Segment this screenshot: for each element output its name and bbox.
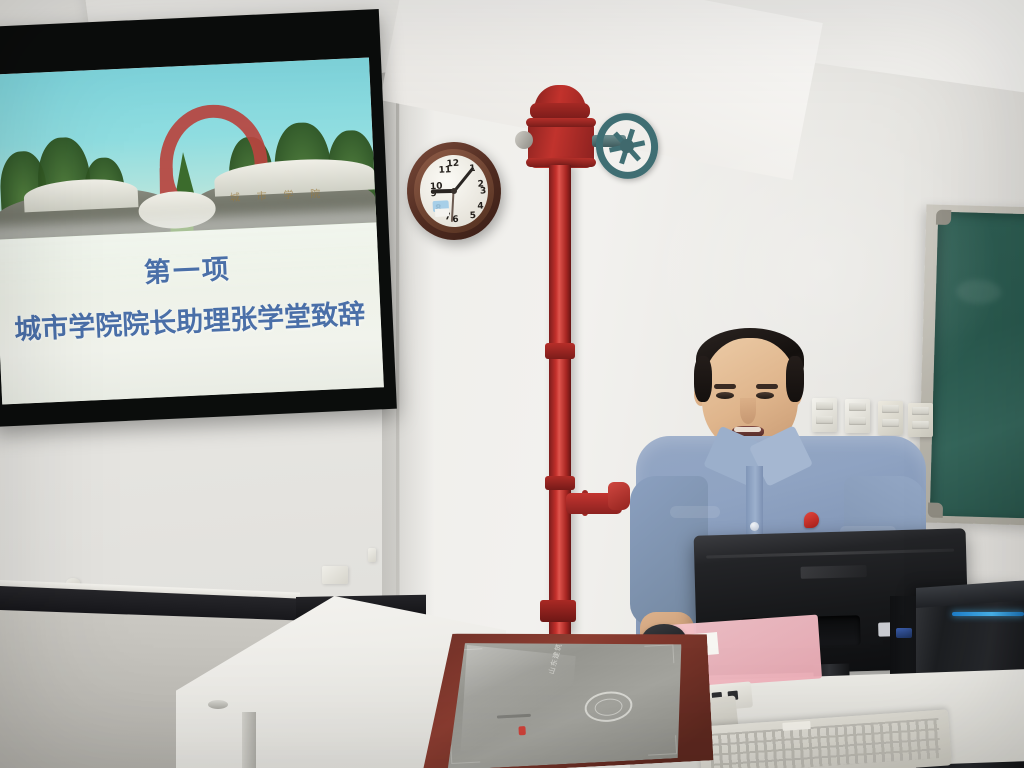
clock-numeral-3: 3	[477, 186, 490, 197]
shirt-button	[750, 522, 759, 531]
monitor-brand-logo	[801, 565, 867, 579]
standpipe-branch-elbow	[608, 482, 630, 510]
standpipe-riser	[549, 165, 571, 635]
lectern-ornament-br	[647, 735, 677, 755]
eyebrow-right	[756, 384, 778, 389]
hair-sideburn-left	[694, 356, 712, 402]
keyboard-keys[interactable]	[709, 718, 941, 768]
room-photo-scene: 城 市 学 院 第一项 城市学院院长助理张学堂致辞 12 1 2 3 4 5 6…	[0, 0, 1024, 768]
projected-slide: 城 市 学 院 第一项 城市学院院长助理张学堂致辞	[0, 58, 384, 405]
handwheel-spoke	[619, 128, 635, 164]
teeth	[734, 427, 761, 432]
lectern-glass-sheen	[455, 639, 581, 765]
pc-rear-port	[896, 628, 912, 638]
projection-screen: 城 市 学 院 第一项 城市学院院长助理张学堂致辞	[0, 9, 397, 427]
clock-numeral-11: 11	[438, 165, 451, 176]
standpipe-clamp-lower	[545, 476, 575, 490]
eye-left	[716, 392, 734, 399]
wall-outlet-left[interactable]	[322, 566, 348, 584]
lectern: 山东建筑大学城市与人才发展学院	[415, 620, 714, 768]
standpipe-side-cap	[515, 131, 533, 149]
lapel-pin	[804, 512, 819, 528]
shirt-fold	[670, 506, 720, 518]
standpipe-base	[540, 600, 576, 622]
wall-outlet-right[interactable]	[368, 548, 376, 562]
board-corner-bl	[928, 502, 943, 517]
nose	[740, 398, 756, 424]
pc-power-led	[952, 612, 1024, 616]
handwheel-spoke	[609, 140, 645, 152]
standpipe-clamp-upper	[545, 343, 575, 359]
clock-sticker-white	[435, 209, 449, 218]
table-cable-grommet	[208, 700, 228, 709]
eyebrow-left	[714, 384, 736, 389]
clock-numeral-5: 5	[467, 211, 480, 222]
table-leg	[242, 712, 256, 768]
eye-right	[756, 392, 774, 399]
hair-sideburn-right	[786, 356, 804, 402]
lectern-ornament-tr	[644, 644, 674, 664]
standpipe-bell-band	[530, 103, 590, 119]
clock-center-pin	[451, 188, 457, 194]
standpipe-flange-top	[526, 118, 596, 127]
